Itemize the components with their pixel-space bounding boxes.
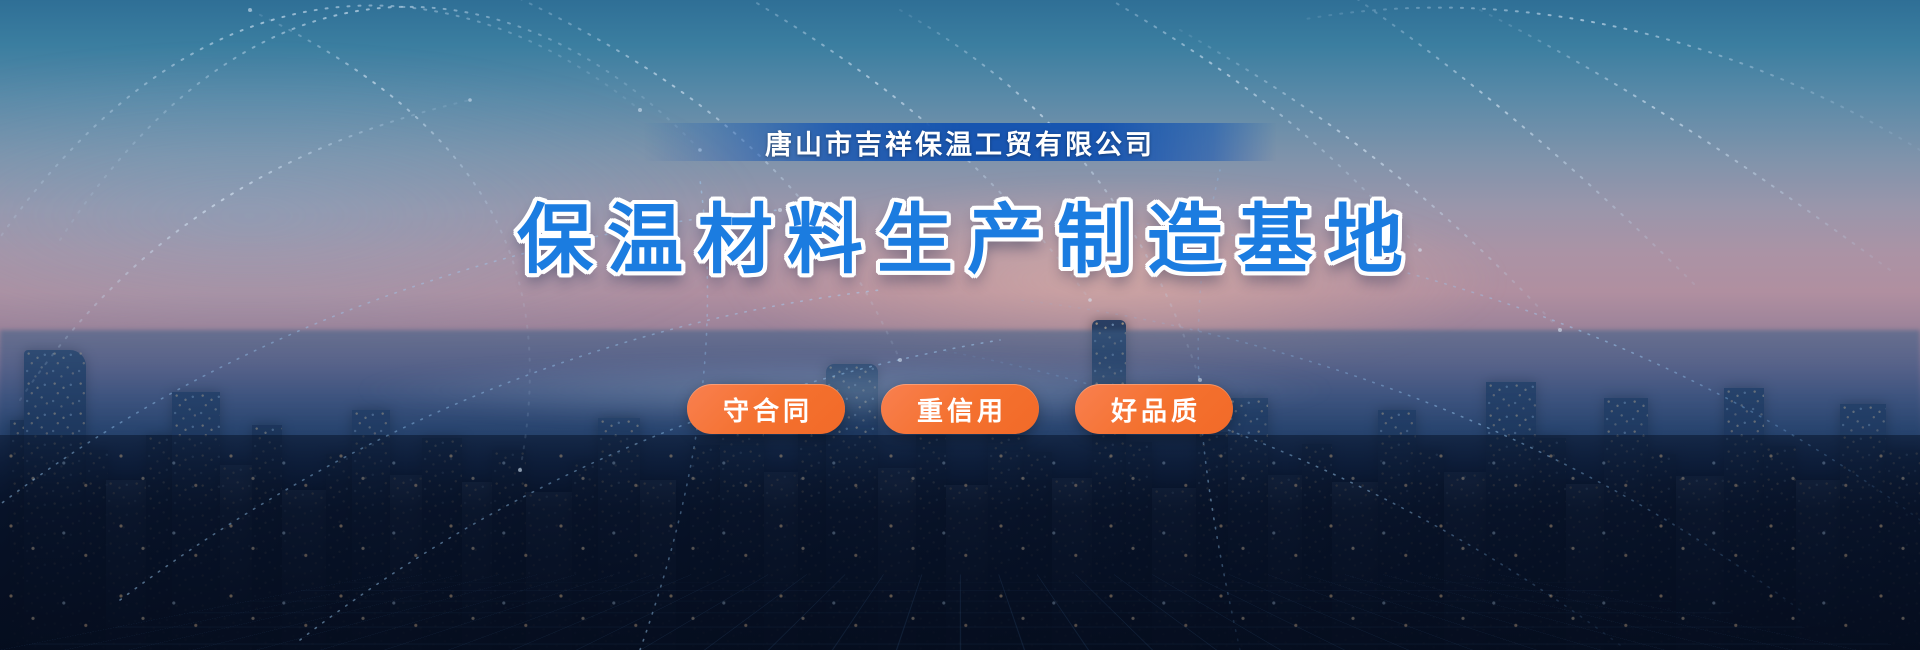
company-name-band: 唐山市吉祥保温工贸有限公司	[644, 123, 1276, 161]
badge-shou-he-tong[interactable]: 守合同	[687, 384, 845, 434]
banner-content: 唐山市吉祥保温工贸有限公司 保温材料生产制造基地 守合同 重信用 好品质	[0, 0, 1920, 650]
badge-label: 守合同	[723, 391, 813, 428]
badge-label: 好品质	[1111, 391, 1201, 428]
badge-label: 重信用	[917, 391, 1007, 428]
badge-zhong-xin-yong[interactable]: 重信用	[881, 384, 1039, 434]
badge-group: 守合同 重信用 好品质	[687, 384, 1233, 434]
badge-hao-pin-zhi[interactable]: 好品质	[1075, 384, 1233, 434]
company-name: 唐山市吉祥保温工贸有限公司	[765, 123, 1155, 162]
headline-slogan: 保温材料生产制造基地	[503, 178, 1417, 288]
hero-banner: 唐山市吉祥保温工贸有限公司 保温材料生产制造基地 守合同 重信用 好品质	[0, 0, 1920, 650]
